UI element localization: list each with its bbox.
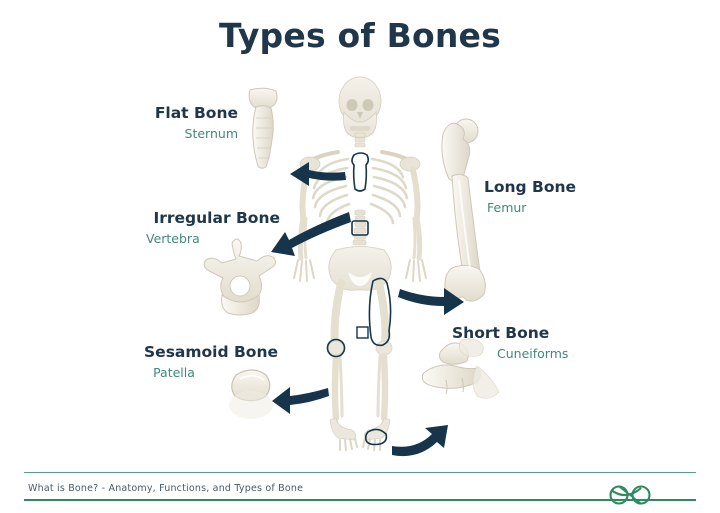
diagram-artwork (0, 0, 720, 513)
label-sesamoid-bone: Sesamoid Bone Patella (70, 344, 278, 380)
label-long-bone-subtitle: Femur (487, 200, 644, 215)
label-long-bone-title: Long Bone (484, 179, 644, 197)
footer-caption: What is Bone? - Anatomy, Functions, and … (28, 483, 303, 494)
arrow-short-bone (392, 425, 448, 456)
label-flat-bone-title: Flat Bone (78, 105, 238, 123)
label-sesamoid-bone-title: Sesamoid Bone (70, 344, 278, 362)
highlight-cuneiforms (366, 429, 387, 444)
label-flat-bone-subtitle: Sternum (78, 126, 238, 141)
label-short-bone-title: Short Bone (452, 325, 622, 343)
label-short-bone: Short Bone Cuneiforms (452, 325, 622, 361)
highlight-sternum (352, 153, 368, 191)
femur-bone-illustration (442, 119, 485, 301)
label-irregular-bone-subtitle: Vertebra (146, 231, 280, 246)
arrow-long-bone (398, 288, 464, 315)
arrow-sesamoid-bone (272, 387, 329, 414)
arrow-flat-bone (290, 162, 346, 186)
label-short-bone-subtitle: Cuneiforms (497, 346, 622, 361)
page-title: Types of Bones (0, 16, 720, 55)
label-sesamoid-bone-subtitle: Patella (70, 365, 278, 380)
label-flat-bone: Flat Bone Sternum (78, 105, 238, 141)
infographic-page: Types of Bones (0, 0, 720, 513)
arrow-irregular-bone (271, 212, 351, 256)
footer-divider-bottom (24, 499, 696, 501)
arrow-group (271, 162, 464, 456)
label-irregular-bone-title: Irregular Bone (88, 210, 280, 228)
scale-marker-square (357, 327, 368, 338)
human-skeleton-illustration (294, 77, 426, 450)
geeksforgeeks-logo (604, 481, 660, 507)
highlight-femur (369, 278, 390, 345)
label-irregular-bone: Irregular Bone Vertebra (88, 210, 280, 246)
highlight-patella (328, 340, 345, 357)
label-long-bone: Long Bone Femur (484, 179, 644, 215)
highlight-vertebra (352, 221, 368, 235)
footer-divider-top (24, 472, 696, 473)
sternum-bone-illustration (249, 88, 277, 168)
vertebra-bone-illustration (204, 239, 275, 315)
